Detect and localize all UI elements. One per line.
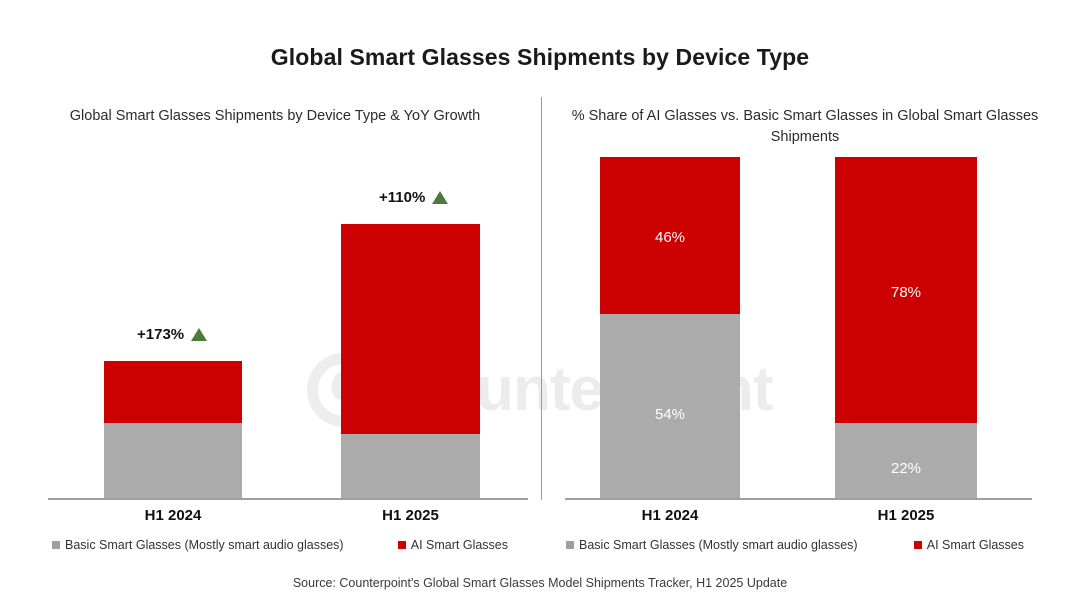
growth-value-h1-2025: +110%	[379, 189, 425, 206]
legend-item-ai-right[interactable]: AI Smart Glasses	[914, 538, 1024, 552]
growth-value-h1-2024: +173%	[137, 326, 184, 343]
share-label-ai-h1-2025: 78%	[835, 284, 977, 301]
growth-annotation-h1-2025: +110%	[379, 189, 448, 206]
triangle-up-icon	[191, 328, 207, 341]
share-label-ai-h1-2024: 46%	[600, 229, 740, 246]
bar-right-h1-2024[interactable]: 46% 54%	[600, 157, 740, 498]
page-title: Global Smart Glasses Shipments by Device…	[0, 44, 1080, 71]
legend-swatch-basic-icon	[566, 541, 574, 549]
x-label-left-h1-2025: H1 2025	[341, 507, 480, 524]
bar-segment-basic-h1-2024[interactable]	[104, 423, 242, 498]
left-panel-subtitle: Global Smart Glasses Shipments by Device…	[40, 106, 510, 127]
bar-segment-ai-h1-2025[interactable]	[341, 224, 480, 434]
legend-label-ai-right: AI Smart Glasses	[927, 538, 1024, 552]
bar-left-h1-2025[interactable]	[341, 224, 480, 498]
chart-canvas: Counterpoint Global Smart Glasses Shipme…	[0, 0, 1080, 608]
bar-right-h1-2025[interactable]: 78% 22%	[835, 157, 977, 498]
legend-swatch-ai-icon	[398, 541, 406, 549]
share-label-basic-h1-2025: 22%	[835, 460, 977, 477]
legend-item-basic-right[interactable]: Basic Smart Glasses (Mostly smart audio …	[566, 538, 858, 552]
right-panel-subtitle: % Share of AI Glasses vs. Basic Smart Gl…	[570, 106, 1040, 148]
x-label-right-h1-2024: H1 2024	[600, 507, 740, 524]
right-legend: Basic Smart Glasses (Mostly smart audio …	[566, 538, 1028, 552]
legend-label-basic-right: Basic Smart Glasses (Mostly smart audio …	[579, 538, 858, 552]
legend-swatch-ai-icon	[914, 541, 922, 549]
legend-label-basic-left: Basic Smart Glasses (Mostly smart audio …	[65, 538, 344, 552]
legend-swatch-basic-icon	[52, 541, 60, 549]
triangle-up-icon	[432, 191, 448, 204]
source-note: Source: Counterpoint's Global Smart Glas…	[0, 576, 1080, 590]
panel-divider	[541, 97, 542, 500]
bar-segment-ai-h1-2024[interactable]	[104, 361, 242, 423]
x-label-left-h1-2024: H1 2024	[104, 507, 242, 524]
bar-segment-basic-share-h1-2024[interactable]: 54%	[600, 314, 740, 498]
left-legend: Basic Smart Glasses (Mostly smart audio …	[52, 538, 522, 552]
legend-item-basic-left[interactable]: Basic Smart Glasses (Mostly smart audio …	[52, 538, 344, 552]
bar-segment-basic-share-h1-2025[interactable]: 22%	[835, 423, 977, 498]
bar-segment-ai-share-h1-2025[interactable]: 78%	[835, 157, 977, 423]
right-axis-line	[565, 498, 1032, 500]
growth-annotation-h1-2024: +173%	[137, 326, 207, 343]
bar-segment-ai-share-h1-2024[interactable]: 46%	[600, 157, 740, 314]
bar-segment-basic-h1-2025[interactable]	[341, 434, 480, 498]
share-label-basic-h1-2024: 54%	[600, 406, 740, 423]
bar-left-h1-2024[interactable]	[104, 361, 242, 498]
x-label-right-h1-2025: H1 2025	[835, 507, 977, 524]
legend-label-ai-left: AI Smart Glasses	[411, 538, 508, 552]
legend-item-ai-left[interactable]: AI Smart Glasses	[398, 538, 508, 552]
left-axis-line	[48, 498, 528, 500]
